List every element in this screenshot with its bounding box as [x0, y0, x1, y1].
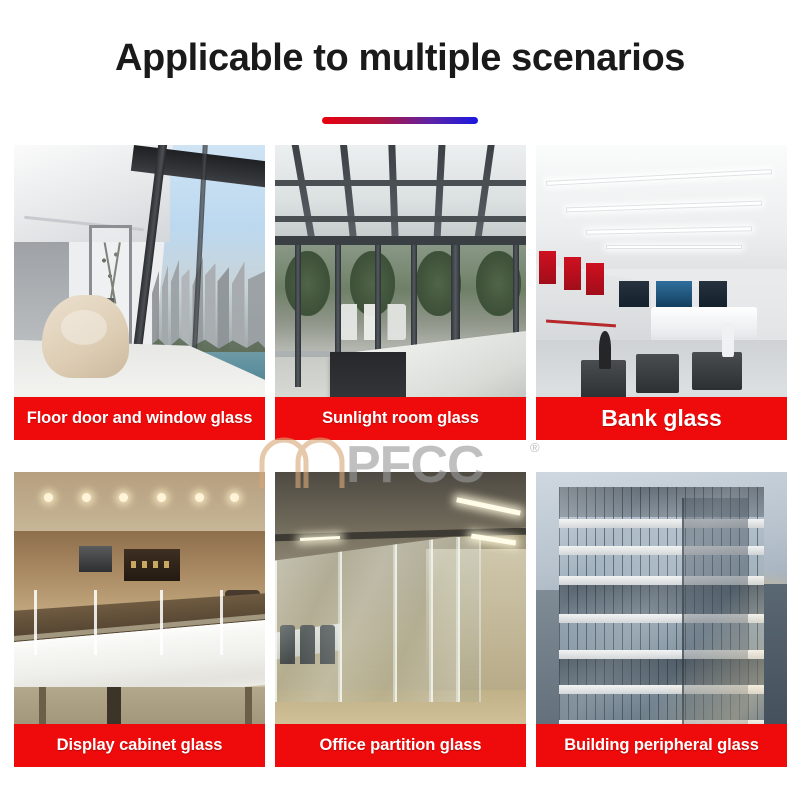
scenario-photo-sunroom [275, 145, 526, 440]
scenario-tile-building-peripheral-glass[interactable]: Building peripheral glass [536, 472, 787, 767]
scenario-caption: Bank glass [536, 397, 787, 440]
scenario-caption: Office partition glass [275, 724, 526, 767]
scenario-caption: Display cabinet glass [14, 724, 265, 767]
page-title: Applicable to multiple scenarios [0, 34, 800, 82]
scenario-photo-office-partition [275, 472, 526, 767]
scenario-photo-bank-lobby [536, 145, 787, 440]
scenario-photo-jewellery-store [14, 472, 265, 767]
scenario-caption: Building peripheral glass [536, 724, 787, 767]
scenario-tile-display-cabinet-glass[interactable]: Display cabinet glass [14, 472, 265, 767]
scenario-tile-sunlight-room-glass[interactable]: Sunlight room glass [275, 145, 526, 440]
scenario-caption: Sunlight room glass [275, 397, 526, 440]
scenario-grid: Floor door and window glass [14, 145, 787, 767]
scenario-photo-living-room [14, 145, 265, 440]
page-header: Applicable to multiple scenarios [0, 0, 800, 140]
scenario-tile-floor-door-and-window-glass[interactable]: Floor door and window glass [14, 145, 265, 440]
scenario-caption: Floor door and window glass [14, 397, 265, 440]
scenario-tile-bank-glass[interactable]: Bank glass [536, 145, 787, 440]
title-divider [322, 117, 478, 124]
page-root: Applicable to multiple scenarios [0, 0, 800, 800]
scenario-photo-curtain-wall-facade [536, 472, 787, 767]
scenario-tile-office-partition-glass[interactable]: Office partition glass [275, 472, 526, 767]
